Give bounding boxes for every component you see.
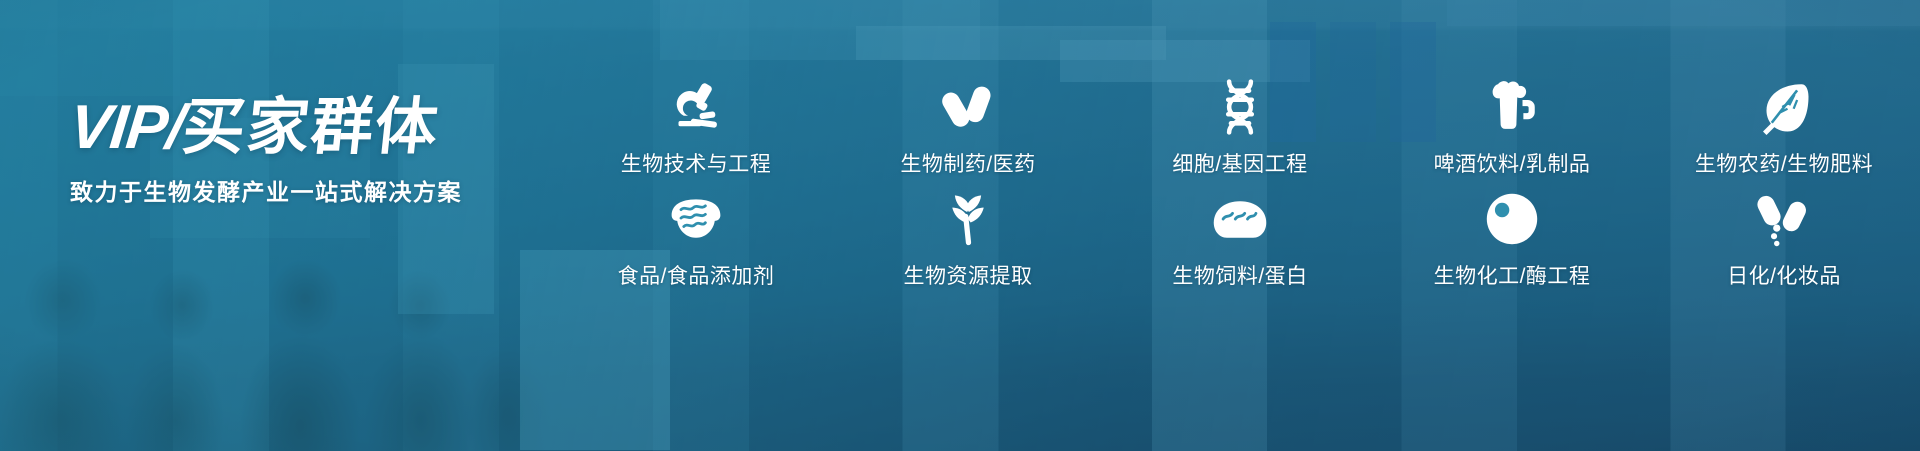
wheat-grain-icon xyxy=(932,188,1004,250)
category-item-bioresource-extraction[interactable]: 生物资源提取 xyxy=(832,184,1104,296)
category-grid: 生物技术与工程 生物制药/医药 xyxy=(560,72,1920,296)
category-item-biochemical-enzyme[interactable]: 生物化工/酶工程 xyxy=(1376,184,1648,296)
category-label: 细胞/基因工程 xyxy=(1172,148,1307,178)
beer-mug-icon xyxy=(1476,76,1548,138)
leaf-icon xyxy=(1748,76,1820,138)
category-item-feed-protein[interactable]: 生物饲料/蛋白 xyxy=(1104,184,1376,296)
category-item-beverage-dairy[interactable]: 啤酒饮料/乳制品 xyxy=(1376,72,1648,184)
title-vip-text: VIP/ xyxy=(66,93,186,162)
category-label: 生物化工/酶工程 xyxy=(1434,260,1591,290)
category-label: 生物制药/医药 xyxy=(900,148,1035,178)
headline-block: VIP/买家群体 致力于生物发酵产业一站式解决方案 xyxy=(70,96,540,207)
category-label: 生物农药/生物肥料 xyxy=(1695,148,1873,178)
category-item-food-additives[interactable]: 食品/食品添加剂 xyxy=(560,184,832,296)
category-label: 生物饲料/蛋白 xyxy=(1172,260,1307,290)
category-label: 日化/化妆品 xyxy=(1727,260,1841,290)
capsule-pills-icon xyxy=(932,76,1004,138)
dna-helix-icon xyxy=(1204,76,1276,138)
category-item-biotech-engineering[interactable]: 生物技术与工程 xyxy=(560,72,832,184)
bread-bun-icon xyxy=(1204,188,1276,250)
title-cn-text: 买家群体 xyxy=(180,93,443,162)
category-item-daily-chemical-cosmetics[interactable]: 日化/化妆品 xyxy=(1648,184,1920,296)
page-subtitle: 致力于生物发酵产业一站式解决方案 xyxy=(70,173,540,207)
category-label: 啤酒饮料/乳制品 xyxy=(1434,148,1591,178)
category-item-biopharma[interactable]: 生物制药/医药 xyxy=(832,72,1104,184)
vip-buyer-banner: VIP/买家群体 致力于生物发酵产业一站式解决方案 生物技术与工程 xyxy=(0,0,1920,451)
category-label: 食品/食品添加剂 xyxy=(618,260,775,290)
bread-loaf-icon xyxy=(660,188,732,250)
enzyme-circle-icon xyxy=(1476,188,1548,250)
category-item-cell-gene-engineering[interactable]: 细胞/基因工程 xyxy=(1104,72,1376,184)
category-label: 生物资源提取 xyxy=(904,260,1033,290)
microscope-icon xyxy=(660,76,732,138)
page-title: VIP/买家群体 xyxy=(67,96,544,159)
capsules-split-icon xyxy=(1748,188,1820,250)
category-item-biopesticide-fertilizer[interactable]: 生物农药/生物肥料 xyxy=(1648,72,1920,184)
category-label: 生物技术与工程 xyxy=(621,148,772,178)
banner-content: VIP/买家群体 致力于生物发酵产业一站式解决方案 生物技术与工程 xyxy=(0,0,1920,451)
